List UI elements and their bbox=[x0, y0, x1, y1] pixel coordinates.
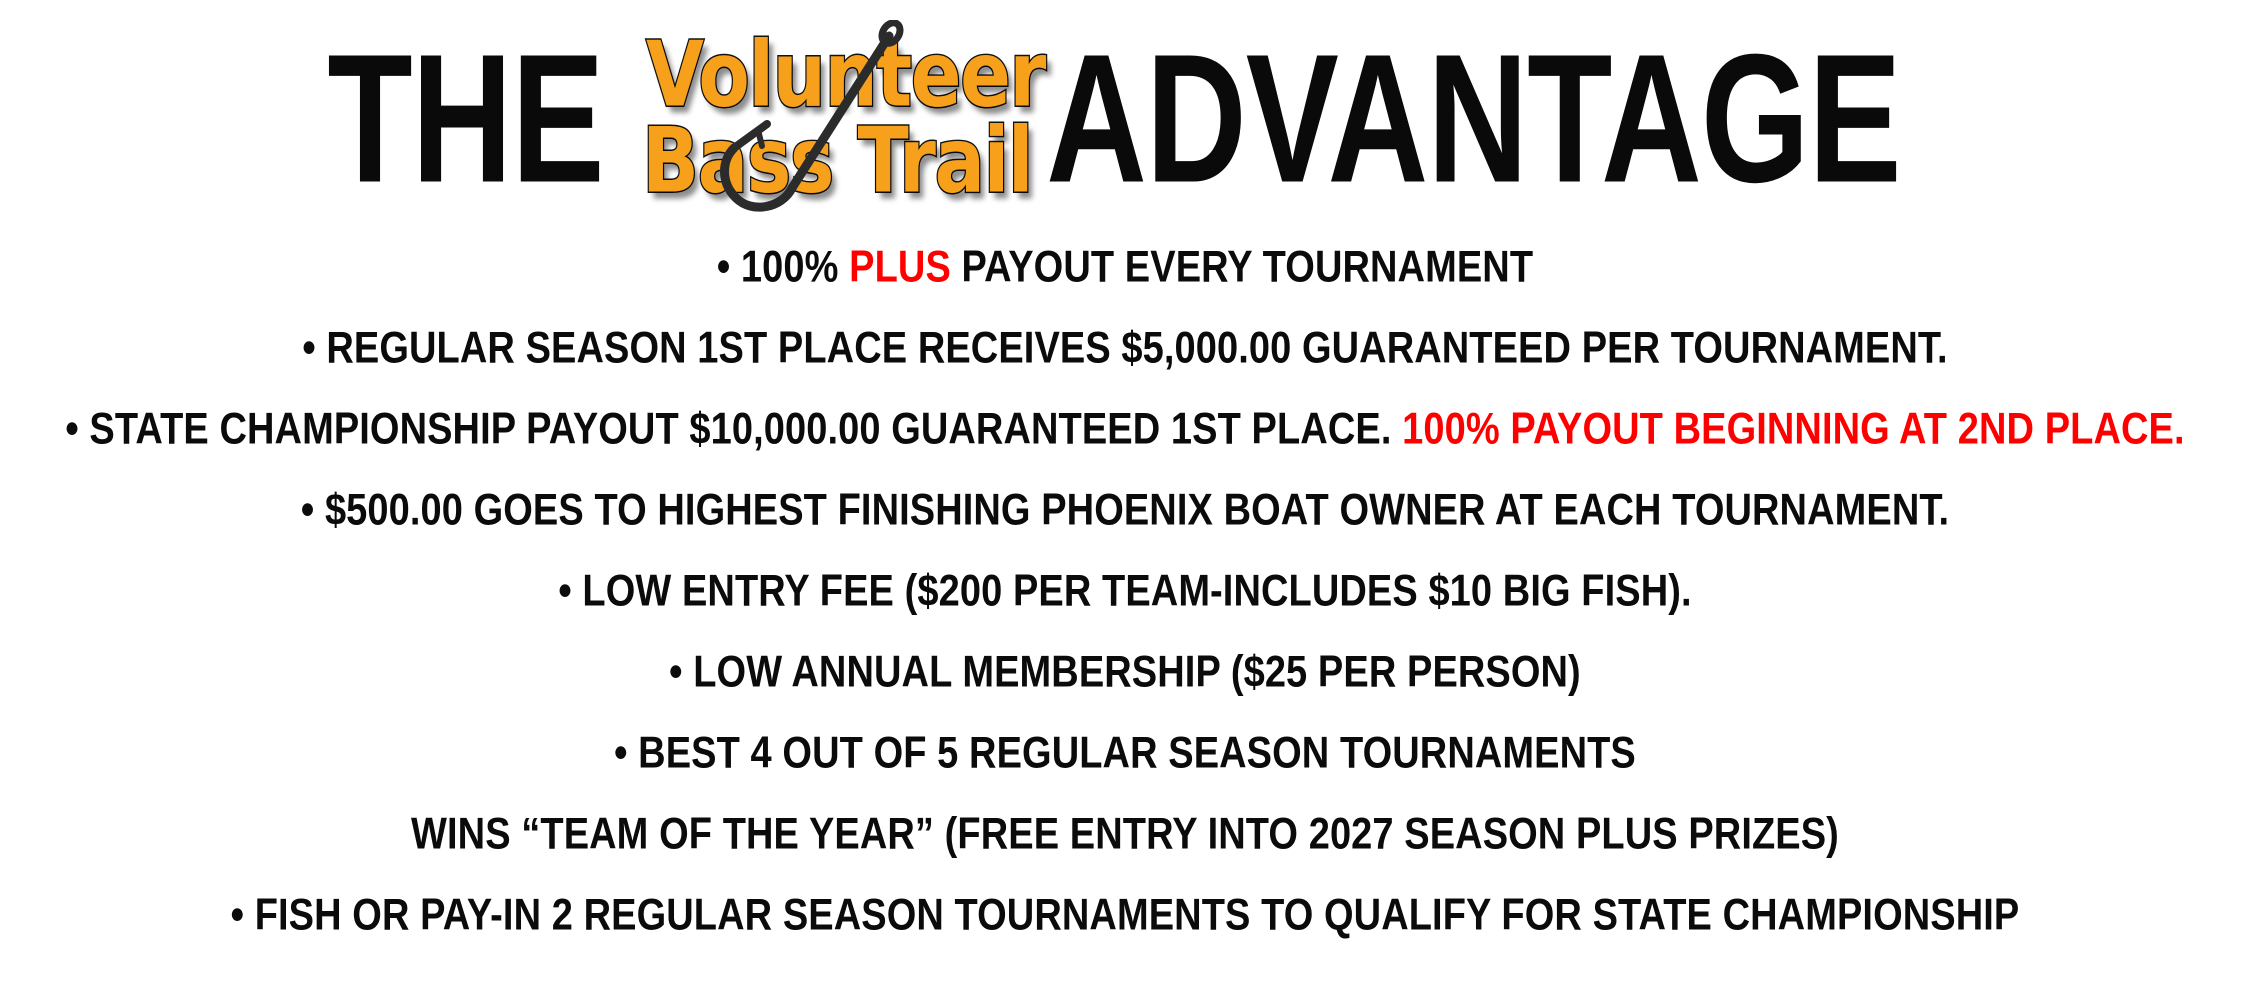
volunteer-bass-trail-logo: Volunteer Bass Trail bbox=[642, 24, 990, 214]
benefit-text: • REGULAR SEASON 1ST PLACE RECEIVES $5,0… bbox=[302, 323, 1947, 372]
promo-flyer: THE Volunteer Bass Trail ADVA bbox=[0, 0, 2250, 993]
benefit-text: • LOW ANNUAL MEMBERSHIP ($25 PER PERSON) bbox=[669, 647, 1581, 696]
benefit-text: • 100% bbox=[717, 242, 849, 291]
benefit-state-championship-payout: • STATE CHAMPIONSHIP PAYOUT $10,000.00 G… bbox=[56, 407, 2194, 452]
benefit-low-annual-membership: • LOW ANNUAL MEMBERSHIP ($25 PER PERSON) bbox=[56, 650, 2194, 695]
title-word-advantage: ADVANTAGE bbox=[1046, 33, 1900, 201]
benefit-highlight-text: 100% PAYOUT BEGINNING AT 2ND PLACE. bbox=[1402, 404, 2184, 453]
benefit-phoenix-boat-owner-bonus: • $500.00 GOES TO HIGHEST FINISHING PHOE… bbox=[56, 488, 2194, 533]
logo-line-volunteer: Volunteer bbox=[646, 30, 980, 120]
benefit-text: • FISH OR PAY-IN 2 REGULAR SEASON TOURNA… bbox=[231, 890, 2020, 939]
benefit-low-entry-fee: • LOW ENTRY FEE ($200 PER TEAM-INCLUDES … bbox=[56, 569, 2194, 614]
logo-line-bass-trail: Bass Trail bbox=[642, 116, 976, 206]
title-word-the: THE bbox=[328, 33, 604, 201]
benefit-text: WINS “TEAM OF THE YEAR” (FREE ENTRY INTO… bbox=[411, 809, 1839, 858]
benefit-qualify-for-state-championship: • FISH OR PAY-IN 2 REGULAR SEASON TOURNA… bbox=[56, 893, 2194, 938]
benefit-text: • STATE CHAMPIONSHIP PAYOUT $10,000.00 G… bbox=[65, 404, 1402, 453]
benefits-list: • 100% PLUS PAYOUT EVERY TOURNAMENT • RE… bbox=[0, 235, 2250, 935]
benefit-regular-season-first-place: • REGULAR SEASON 1ST PLACE RECEIVES $5,0… bbox=[56, 326, 2194, 371]
benefit-text: • $500.00 GOES TO HIGHEST FINISHING PHOE… bbox=[301, 485, 1949, 534]
page-title: THE Volunteer Bass Trail ADVA bbox=[0, 0, 2250, 235]
benefit-text: • BEST 4 OUT OF 5 REGULAR SEASON TOURNAM… bbox=[614, 728, 1636, 777]
benefit-payout-every-tournament: • 100% PLUS PAYOUT EVERY TOURNAMENT bbox=[56, 245, 2194, 290]
benefit-text: • LOW ENTRY FEE ($200 PER TEAM-INCLUDES … bbox=[558, 566, 1691, 615]
benefit-highlight-text: PLUS bbox=[849, 242, 951, 291]
benefit-text: PAYOUT EVERY TOURNAMENT bbox=[951, 242, 1533, 291]
benefit-team-of-the-year: WINS “TEAM OF THE YEAR” (FREE ENTRY INTO… bbox=[56, 812, 2194, 857]
benefit-best-4-of-5: • BEST 4 OUT OF 5 REGULAR SEASON TOURNAM… bbox=[56, 731, 2194, 776]
